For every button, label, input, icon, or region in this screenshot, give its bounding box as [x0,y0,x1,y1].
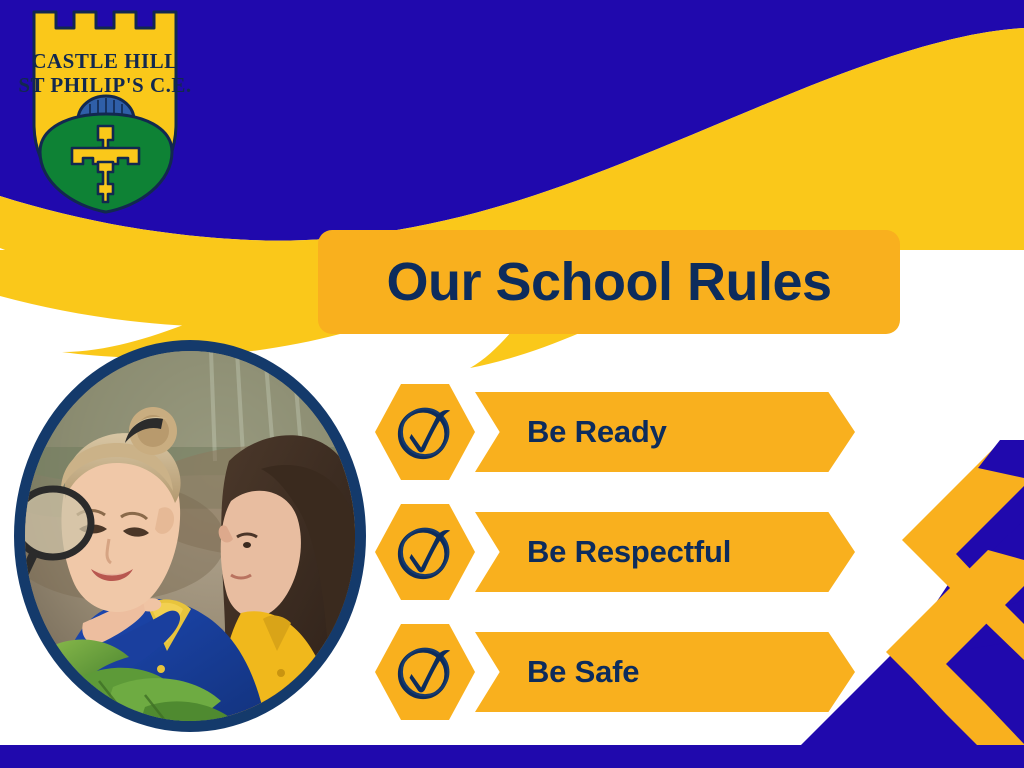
bottom-blue-bar [0,745,1024,768]
chevron-blue-arm-1 [934,452,1024,576]
chevron-blue-notch [978,440,1024,478]
children-photo-circle [14,340,366,732]
school-rules-list: Be Ready Be Respectful [375,384,875,724]
rule-banner: Be Respectful [475,512,855,592]
children-with-magnifying-glass-photo [25,351,366,732]
chevron-yellow-stroke-1 [902,442,1024,660]
rule-badge-hexagon [375,504,475,600]
rule-banner: Be Ready [475,392,855,472]
rule-label: Be Ready [527,414,667,450]
school-crest-logo: CASTLE HILL ST PHILIP'S C.E. [12,6,198,218]
band-white-1 [452,20,1024,244]
check-circle-icon [394,521,456,583]
chevron-blue-arm-2 [900,640,1024,712]
rule-label: Be Safe [527,654,639,690]
chevron-yellow-stroke-2 [886,550,1024,768]
check-circle-icon [394,401,456,463]
chevron-blue-mass [898,470,1024,745]
page-title-plate: Our School Rules [318,230,900,334]
rule-badge-hexagon [375,624,475,720]
check-circle-icon [394,641,456,703]
crest-line-1: CASTLE HILL [31,49,178,73]
school-rules-poster: CASTLE HILL ST PHILIP'S C.E. Our School … [0,0,1024,768]
crest-line-2: ST PHILIP'S C.E. [18,73,191,97]
rule-label: Be Respectful [527,534,731,570]
rule-badge-hexagon [375,384,475,480]
rule-row[interactable]: Be Safe [375,624,865,720]
band-yellow-outer [470,66,1024,250]
rule-banner: Be Safe [475,632,855,712]
rule-row[interactable]: Be Ready [375,384,865,480]
rule-row[interactable]: Be Respectful [375,504,865,600]
page-title: Our School Rules [386,251,831,313]
